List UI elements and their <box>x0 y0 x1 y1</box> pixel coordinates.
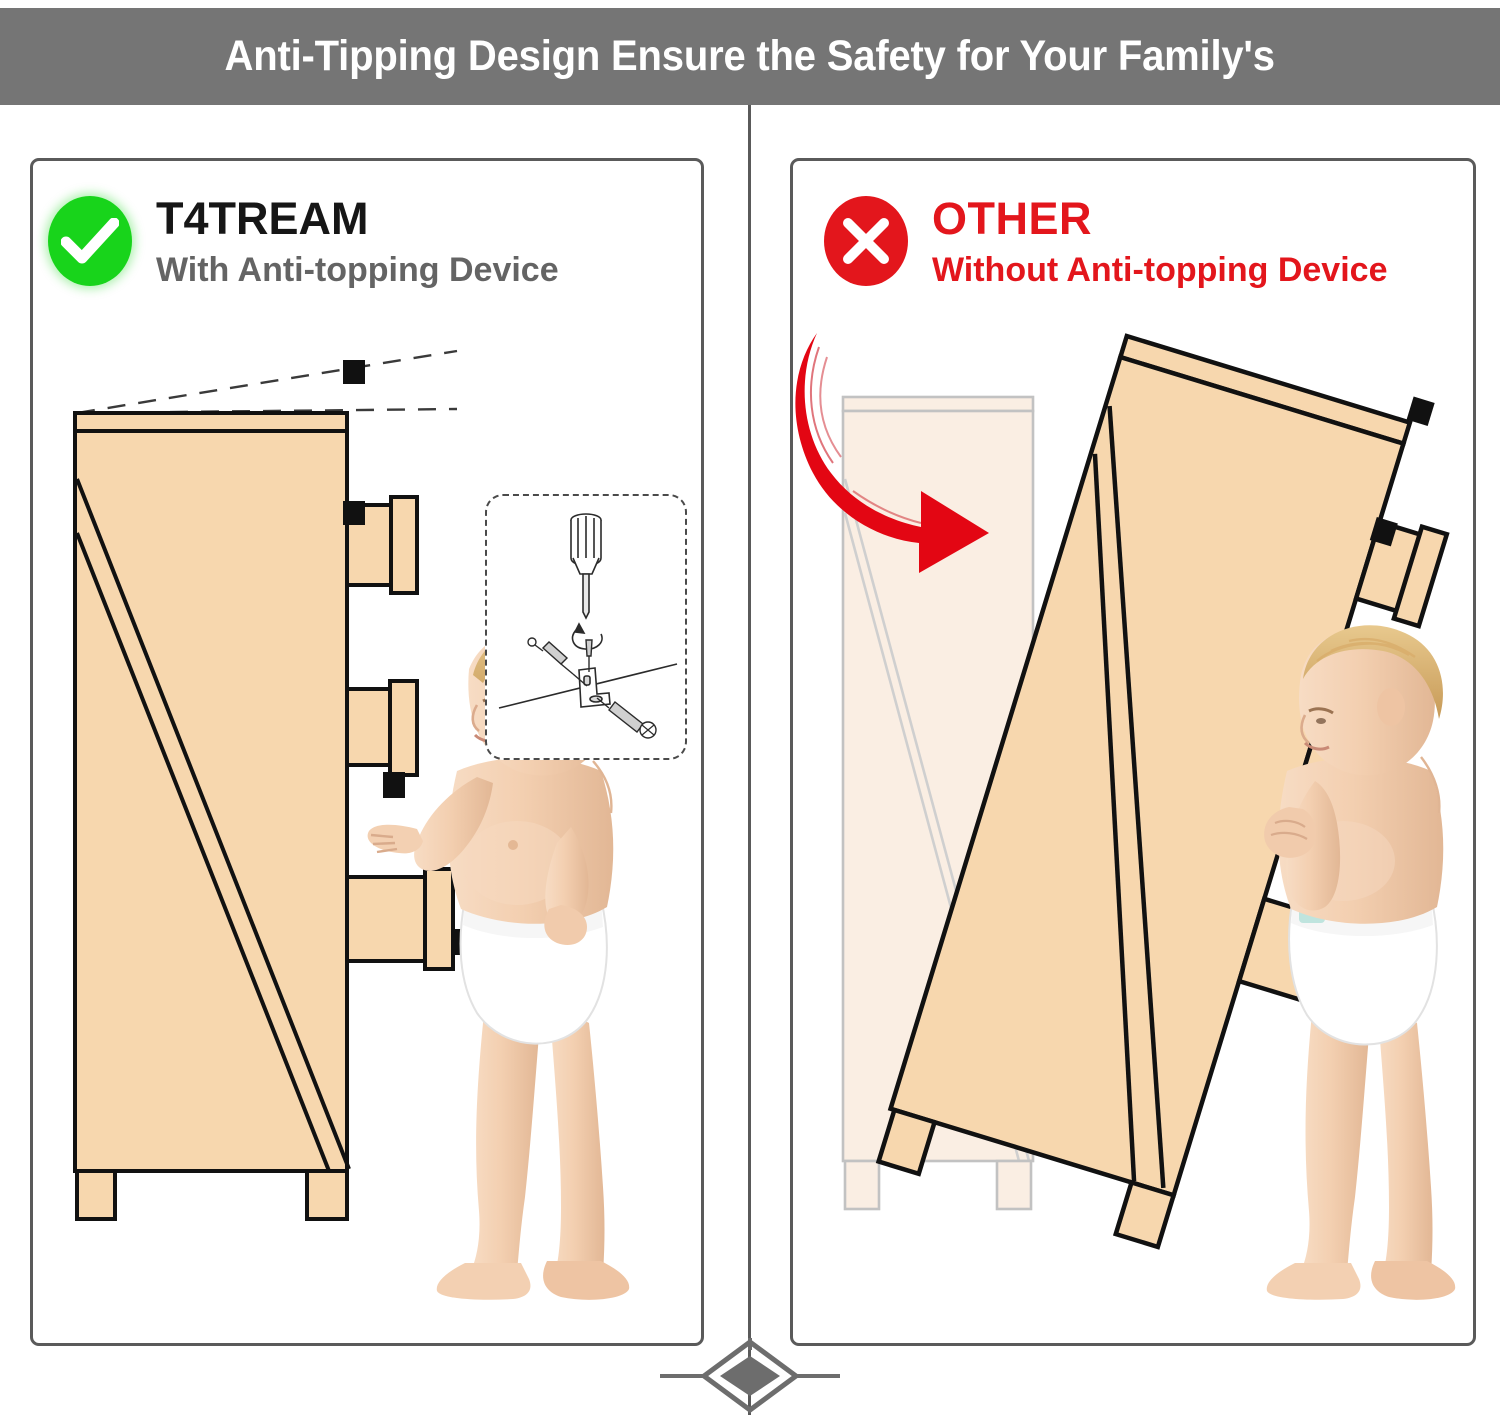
right-heading-row: OTHER Without Anti-topping Device <box>824 196 1387 294</box>
center-divider <box>748 105 751 1415</box>
l-bracket-icon <box>579 668 610 707</box>
brand-subtitle: With Anti-topping Device <box>156 248 559 294</box>
left-heading-text: T4TREAM With Anti-topping Device <box>156 196 559 294</box>
brand-name: T4TREAM <box>156 196 559 242</box>
diamond-ornament <box>660 1338 840 1414</box>
comparison-infographic: Anti-Tipping Design Ensure the Safety fo… <box>0 0 1500 1415</box>
dresser-drawers <box>347 497 453 969</box>
header-bar: Anti-Tipping Design Ensure the Safety fo… <box>0 8 1500 105</box>
wall-anchor-icon <box>528 638 587 686</box>
screw-icon-top <box>586 640 592 672</box>
anti-tip-kit-inset <box>485 494 687 760</box>
other-label: OTHER <box>932 196 1387 242</box>
screwdriver-icon <box>571 514 601 618</box>
dresser-upright <box>75 413 349 1219</box>
right-illustration <box>793 161 1473 1343</box>
panel-bad <box>790 158 1476 1346</box>
check-circle-icon <box>48 196 132 286</box>
panel-good <box>30 158 704 1346</box>
x-circle-icon <box>824 196 908 286</box>
callout-lines <box>77 351 457 413</box>
left-heading-row: T4TREAM With Anti-topping Device <box>48 196 559 294</box>
other-subtitle: Without Anti-topping Device <box>932 248 1387 294</box>
anti-tip-kit-parts <box>487 496 685 758</box>
right-heading-text: OTHER Without Anti-topping Device <box>932 196 1387 294</box>
page-title: Anti-Tipping Design Ensure the Safety fo… <box>225 32 1275 81</box>
